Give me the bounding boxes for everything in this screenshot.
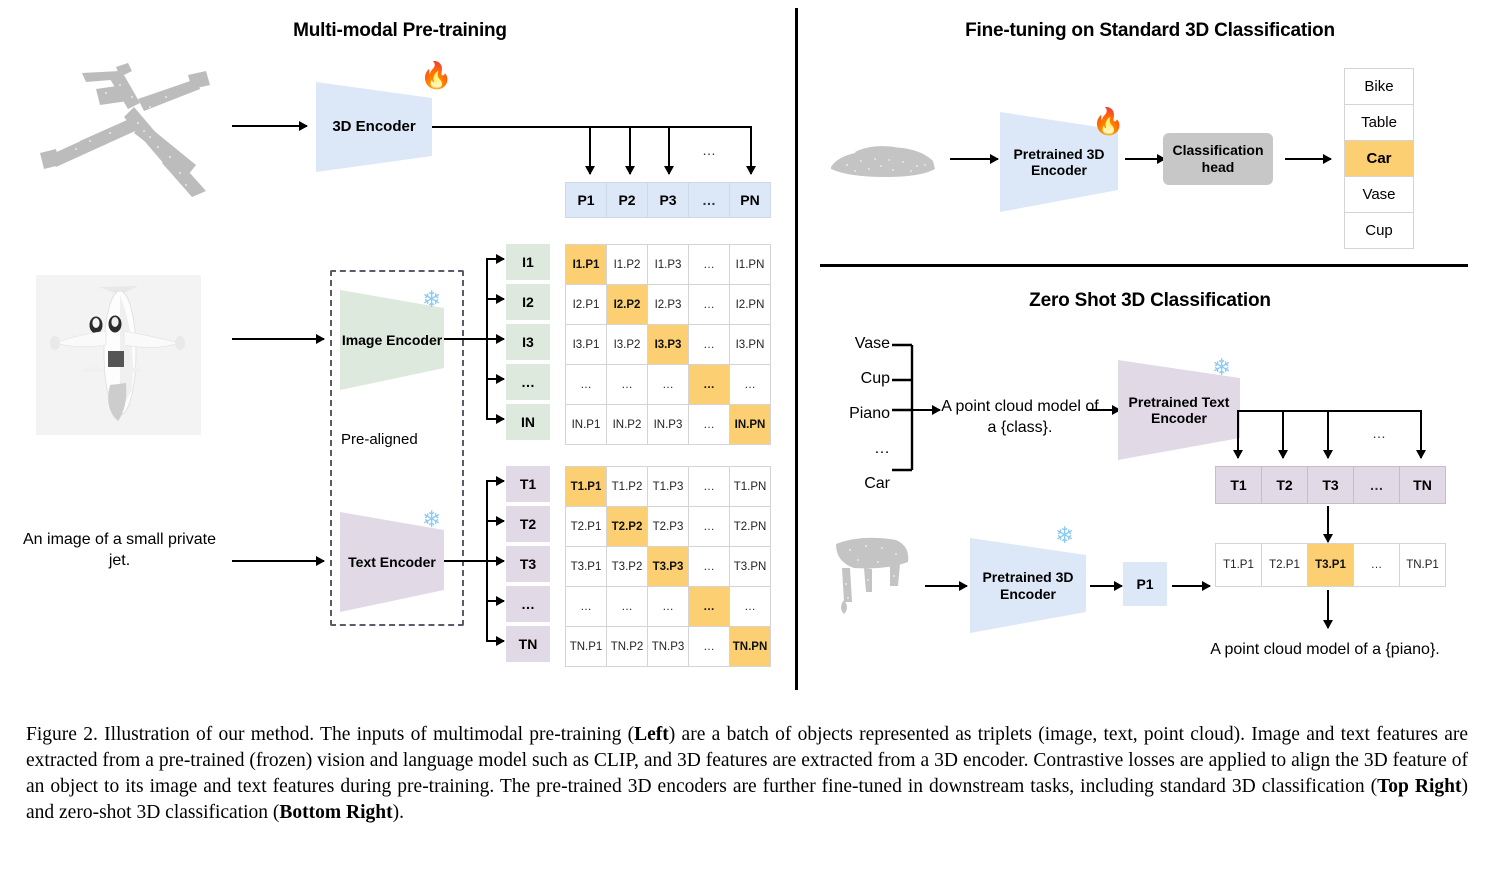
snowflake-icon-text-encoder: ❄ <box>422 508 441 531</box>
matrix-cell: I2.P3 <box>648 285 688 324</box>
matrix-cell: … <box>607 365 647 404</box>
t-chip: T2 <box>1262 467 1307 503</box>
encoder-3d: 3D Encoder <box>316 82 432 172</box>
image-label-column: I1 I2 I3 … IN <box>506 244 550 440</box>
matrix-cell: T1.PN <box>730 467 770 506</box>
matrix-cell: T2.P1 <box>566 507 606 546</box>
p-chip: … <box>689 183 729 217</box>
text-label: … <box>506 586 550 622</box>
bus-dots: … <box>702 142 716 158</box>
text-input-caption: An image of a small private jet. <box>22 530 217 572</box>
matrix-cell: … <box>689 405 729 444</box>
t-chip: … <box>1354 467 1399 503</box>
matrix-cell: … <box>689 507 729 546</box>
matrix-cell: I3.P1 <box>566 325 606 364</box>
image-label: … <box>506 364 550 400</box>
pretrained-3d-encoder-zeroshot: Pretrained 3D Encoder <box>970 538 1086 633</box>
arrow-p1-to-scores <box>1172 585 1210 587</box>
arrow-to-TN <box>486 640 504 642</box>
matrix-cell: I3.P2 <box>607 325 647 364</box>
matrix-cell: … <box>648 365 688 404</box>
class-item[interactable]: Vase <box>1345 177 1413 212</box>
arrow-to-IN <box>486 418 504 420</box>
arrow-to-I1 <box>486 258 504 260</box>
matrix-cell: T2.P3 <box>648 507 688 546</box>
caption-bold-topright: Top Right <box>1377 776 1461 797</box>
text-label-column: T1 T2 T3 … TN <box>506 466 550 662</box>
jet-image <box>36 275 201 435</box>
matrix-cell: T2.P2 <box>607 507 647 546</box>
car-point-cloud <box>825 135 940 190</box>
encoder-3d-label: 3D Encoder <box>332 118 415 135</box>
fire-icon-3d-encoder: 🔥 <box>420 62 452 88</box>
arrow-encoder-to-p1 <box>1090 585 1122 587</box>
class-item[interactable]: Table <box>1345 105 1413 140</box>
score-row-zeroshot: T1.P1 T2.P1 T3.P1 … TN.P1 <box>1215 543 1446 587</box>
matrix-cell: I1.PN <box>730 245 770 284</box>
p1-chip-label: P1 <box>1136 576 1153 592</box>
arrow-to-p2 <box>629 126 631 174</box>
matrix-cell: … <box>730 365 770 404</box>
arrow-to-p1 <box>589 126 591 174</box>
matrix-cell: T1.P3 <box>648 467 688 506</box>
arrow-to-I2 <box>486 298 504 300</box>
arrow-encoder-to-head <box>1125 158 1165 160</box>
t-chip: TN <box>1400 467 1445 503</box>
text-pointcloud-matrix: T1.P1 T1.P2 T1.P3 … T1.PN T2.P1 T2.P2 T2… <box>565 466 771 667</box>
arrow-piano-to-encoder <box>925 585 967 587</box>
matrix-cell: … <box>689 467 729 506</box>
caption-part-4: ). <box>393 802 404 823</box>
arrow-to-TN-chip <box>1420 410 1422 458</box>
matrix-cell: TN.PN <box>730 627 770 666</box>
classification-head: Classification head <box>1163 133 1273 185</box>
zeroshot-class: Cup <box>822 370 890 405</box>
image-label: I3 <box>506 324 550 360</box>
matrix-cell: TN.P2 <box>607 627 647 666</box>
zeroshot-class: … <box>822 440 890 475</box>
matrix-cell: … <box>648 587 688 626</box>
image-label: I1 <box>506 244 550 280</box>
matrix-cell: I2.P1 <box>566 285 606 324</box>
arrow-to-T2-chip <box>1282 410 1284 458</box>
caption-bold-left: Left <box>634 724 669 745</box>
matrix-cell: I2.P2 <box>607 285 647 324</box>
p-chip: P3 <box>648 183 688 217</box>
p-chip: P2 <box>607 183 647 217</box>
arrow-tchips-to-scores <box>1327 506 1329 542</box>
matrix-cell: T3.P1 <box>566 547 606 586</box>
matrix-cell: IN.PN <box>730 405 770 444</box>
matrix-cell: T3.P2 <box>607 547 647 586</box>
arrow-image-to-image-encoder <box>232 338 324 340</box>
text-label: T1 <box>506 466 550 502</box>
image-label: I2 <box>506 284 550 320</box>
panel-divider-vertical <box>795 8 798 690</box>
airplane-point-cloud <box>20 45 220 205</box>
pretrained-3d-encoder-label: Pretrained 3D Encoder <box>1000 146 1118 178</box>
arrow-head-to-classes <box>1285 158 1331 160</box>
matrix-cell: TN.P1 <box>566 627 606 666</box>
snowflake-icon-text-encoder-zeroshot: ❄ <box>1212 356 1231 379</box>
p-chip: PN <box>730 183 770 217</box>
matrix-cell: IN.P2 <box>607 405 647 444</box>
panel-divider-horizontal <box>820 264 1468 267</box>
bus-dots-zeroshot: … <box>1372 425 1386 441</box>
image-pointcloud-matrix: I1.P1 I1.P2 I1.P3 … I1.PN I2.P1 I2.P2 I2… <box>565 244 771 445</box>
zeroshot-result-text: A point cloud model of a {piano}. <box>1175 640 1475 661</box>
t-chip: T1 <box>1216 467 1261 503</box>
score-cell: T2.P1 <box>1262 544 1307 586</box>
text-label: TN <box>506 626 550 662</box>
bottomright-panel-title: Zero Shot 3D Classification <box>890 290 1410 312</box>
piano-point-cloud <box>828 528 918 618</box>
caption-bold-bottomright: Bottom Right <box>279 802 392 823</box>
bus-3d-encoder <box>432 126 752 128</box>
matrix-cell: TN.P3 <box>648 627 688 666</box>
class-item[interactable]: Bike <box>1345 69 1413 104</box>
bus-text-encoder-zeroshot <box>1237 410 1422 412</box>
matrix-cell: … <box>607 587 647 626</box>
matrix-cell: I1.P3 <box>648 245 688 284</box>
prompt-template-text: A point cloud model of a {class}. <box>940 397 1100 439</box>
matrix-cell: T2.PN <box>730 507 770 546</box>
arrow-to-Tdots <box>486 600 504 602</box>
classification-head-label: Classification head <box>1163 142 1273 176</box>
prealigned-label: Pre-aligned <box>341 431 418 448</box>
matrix-cell: … <box>689 245 729 284</box>
p-chip-row: P1 P2 P3 … PN <box>565 182 771 218</box>
pretrained-3d-encoder-zeroshot-label: Pretrained 3D Encoder <box>970 569 1086 601</box>
text-encoder-out <box>444 560 486 562</box>
arrow-to-T2 <box>486 520 504 522</box>
matrix-cell: IN.P1 <box>566 405 606 444</box>
score-cell: T1.P1 <box>1216 544 1261 586</box>
matrix-cell: … <box>730 587 770 626</box>
image-label: IN <box>506 404 550 440</box>
pretrained-text-encoder-label: Pretrained Text Encoder <box>1118 394 1240 426</box>
p1-chip-zeroshot: P1 <box>1123 562 1167 606</box>
arrow-prompt-to-textencoder <box>1088 409 1120 411</box>
figure-root: Multi-modal Pre-training <box>0 0 1490 888</box>
matrix-cell: IN.P3 <box>648 405 688 444</box>
matrix-cell: T1.P1 <box>566 467 606 506</box>
left-panel-title: Multi-modal Pre-training <box>200 20 600 42</box>
matrix-cell: … <box>689 285 729 324</box>
zeroshot-class: Vase <box>822 335 890 370</box>
matrix-cell: I3.PN <box>730 325 770 364</box>
arrow-to-T3 <box>486 560 504 562</box>
text-label: T3 <box>506 546 550 582</box>
image-encoder-label: Image Encoder <box>342 332 442 348</box>
caption-part-1: Figure 2. Illustration of our method. Th… <box>26 724 634 745</box>
class-list-finetune: Bike Table Car Vase Cup <box>1344 68 1414 249</box>
arrow-classes-to-prompt <box>912 409 940 411</box>
figure-caption: Figure 2. Illustration of our method. Th… <box>26 722 1468 826</box>
t-chip-row-zeroshot: T1 T2 T3 … TN <box>1215 466 1446 504</box>
arrow-to-T3-chip <box>1327 410 1329 458</box>
matrix-cell: … <box>689 325 729 364</box>
matrix-cell: … <box>566 587 606 626</box>
matrix-cell: I1.P2 <box>607 245 647 284</box>
arrow-to-Idots <box>486 378 504 380</box>
matrix-cell: … <box>689 365 729 404</box>
zeroshot-class: Piano <box>822 405 890 440</box>
arrow-to-T1 <box>486 480 504 482</box>
matrix-cell: I1.P1 <box>566 245 606 284</box>
score-cell: … <box>1354 544 1399 586</box>
snowflake-icon-3d-encoder-zeroshot: ❄ <box>1055 524 1074 547</box>
matrix-cell: T3.PN <box>730 547 770 586</box>
arrow-car-to-encoder <box>950 158 998 160</box>
class-bracket <box>890 340 920 475</box>
arrow-scores-to-result <box>1327 590 1329 628</box>
matrix-cell: T3.P3 <box>648 547 688 586</box>
score-cell: TN.P1 <box>1400 544 1445 586</box>
score-cell-predicted: T3.P1 <box>1308 544 1353 586</box>
zeroshot-class: Car <box>822 475 890 510</box>
matrix-cell: I3.P3 <box>648 325 688 364</box>
class-item-predicted[interactable]: Car <box>1345 141 1413 176</box>
p-chip: P1 <box>566 183 606 217</box>
text-label: T2 <box>506 506 550 542</box>
arrow-to-pn <box>750 126 752 174</box>
matrix-cell: I2.PN <box>730 285 770 324</box>
arrow-pointcloud-to-3d-encoder <box>232 125 307 127</box>
t-chip: T3 <box>1308 467 1353 503</box>
arrow-to-I3 <box>486 338 504 340</box>
image-encoder-out <box>444 338 486 340</box>
snowflake-icon-image-encoder: ❄ <box>422 288 441 311</box>
matrix-cell: … <box>689 587 729 626</box>
fire-icon-finetune: 🔥 <box>1092 108 1124 134</box>
arrow-text-to-text-encoder <box>232 560 324 562</box>
text-encoder-label: Text Encoder <box>348 554 436 570</box>
matrix-cell: … <box>689 547 729 586</box>
matrix-cell: T1.P2 <box>607 467 647 506</box>
matrix-cell: … <box>566 365 606 404</box>
matrix-cell: … <box>689 627 729 666</box>
class-item[interactable]: Cup <box>1345 213 1413 248</box>
topright-panel-title: Fine-tuning on Standard 3D Classificatio… <box>870 20 1430 42</box>
arrow-to-p3 <box>668 126 670 174</box>
zeroshot-class-list: Vase Cup Piano … Car <box>822 335 890 510</box>
